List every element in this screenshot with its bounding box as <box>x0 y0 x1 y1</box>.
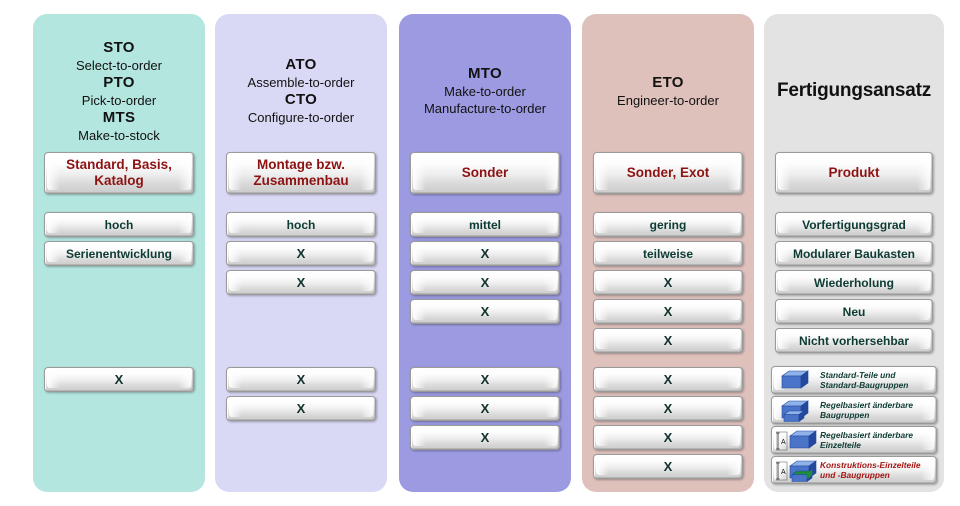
row-cell-eto-3[interactable]: X <box>593 299 743 324</box>
product-cell-eto[interactable]: Sonder, Exot <box>593 152 743 194</box>
icon-row-label: Konstruktions-Einzelteileund -Baugruppen <box>820 460 925 481</box>
heading-line: Manufacture-to-order <box>424 100 546 117</box>
column-heading-sto: STOSelect-to-orderPTOPick-to-orderMTSMak… <box>33 26 205 156</box>
column-heading-fertigungsansatz: Fertigungsansatz <box>764 26 944 156</box>
row-label: Nicht vorhersehbar <box>785 334 923 348</box>
row-cell-eto-4[interactable]: X <box>593 328 743 353</box>
row-cell-mto-2[interactable]: X <box>410 270 560 295</box>
lower-row-cell-ato-0[interactable]: X <box>226 367 376 392</box>
row-cell-fertigungsansatz-3[interactable]: Neu <box>775 299 933 324</box>
product-label: Montage bzw.Zusammenbau <box>239 157 362 189</box>
row-cell-fertigungsansatz-0[interactable]: Vorfertigungsgrad <box>775 212 933 237</box>
dimensioned-box-icon: A <box>776 427 820 453</box>
lower-row-cell-sto-0[interactable]: X <box>44 367 194 392</box>
lower-row-cell-mto-1[interactable]: X <box>410 396 560 421</box>
heading-line: PTO <box>103 74 134 92</box>
svg-text:A: A <box>781 439 786 446</box>
row-label: X <box>467 431 504 445</box>
lower-row-cell-mto-2[interactable]: X <box>410 425 560 450</box>
row-cell-ato-1[interactable]: X <box>226 241 376 266</box>
heading-line: Make-to-order <box>444 83 526 100</box>
row-label: teilweise <box>629 247 707 261</box>
heading-line: CTO <box>285 91 317 109</box>
row-label: X <box>650 402 687 416</box>
row-label: X <box>101 373 138 387</box>
column-heading-mto: MTOMake-to-orderManufacture-to-order <box>399 26 571 156</box>
row-label: X <box>650 276 687 290</box>
column-sto: STOSelect-to-orderPTOPick-to-orderMTSMak… <box>33 14 205 492</box>
lower-row-cell-eto-0[interactable]: X <box>593 367 743 392</box>
row-cell-ato-2[interactable]: X <box>226 270 376 295</box>
extra-row-cell-eto[interactable]: X <box>593 454 743 479</box>
row-cell-mto-1[interactable]: X <box>410 241 560 266</box>
product-cell-sto[interactable]: Standard, Basis,Katalog <box>44 152 194 194</box>
row-label: Modularer Baukasten <box>779 247 929 261</box>
row-cell-eto-2[interactable]: X <box>593 270 743 295</box>
row-cell-sto-1[interactable]: Serienentwicklung <box>44 241 194 266</box>
icon-row-0[interactable]: Standard-Teile undStandard-Baugruppen <box>771 366 937 394</box>
icon-row-3[interactable]: AKonstruktions-Einzelteileund -Baugruppe… <box>771 456 937 484</box>
row-label: X <box>467 373 504 387</box>
heading-line: MTO <box>468 65 502 83</box>
icon-row-label: Standard-Teile undStandard-Baugruppen <box>820 370 912 391</box>
row-label: mittel <box>455 218 515 232</box>
row-cell-fertigungsansatz-1[interactable]: Modularer Baukasten <box>775 241 933 266</box>
column-heading-ato: ATOAssemble-to-orderCTOConfigure-to-orde… <box>215 26 387 156</box>
row-label: X <box>283 247 320 261</box>
manufacturing-approach-diagram: STOSelect-to-orderPTOPick-to-orderMTSMak… <box>0 0 960 506</box>
heading-line: ETO <box>652 74 683 92</box>
heading-line: ATO <box>285 56 316 74</box>
row-label: X <box>650 305 687 319</box>
heading-line: Assemble-to-order <box>248 74 355 91</box>
heading-line: Pick-to-order <box>82 92 156 109</box>
lower-row-cell-eto-1[interactable]: X <box>593 396 743 421</box>
lower-row-cell-ato-1[interactable]: X <box>226 396 376 421</box>
row-label: hoch <box>273 218 330 232</box>
row-label: gering <box>636 218 701 232</box>
custom-assembly-icon: A <box>776 457 820 483</box>
icon-row-label: Regelbasiert änderbareEinzelteile <box>820 430 917 451</box>
product-label: Produkt <box>814 165 893 181</box>
solid-box-icon <box>776 367 820 393</box>
row-label: X <box>650 431 687 445</box>
heading-line: Select-to-order <box>76 57 162 74</box>
icon-row-label: Regelbasiert änderbareBaugruppen <box>820 400 917 421</box>
row-cell-eto-0[interactable]: gering <box>593 212 743 237</box>
product-label: Sonder, Exot <box>613 165 724 181</box>
heading-line: Engineer-to-order <box>617 92 719 109</box>
row-label: Serienentwicklung <box>52 247 186 261</box>
product-cell-fertigungsansatz[interactable]: Produkt <box>775 152 933 194</box>
row-label: X <box>467 402 504 416</box>
row-label: X <box>283 373 320 387</box>
row-label: X <box>467 305 504 319</box>
column-eto: ETOEngineer-to-orderSonder, Exotgeringte… <box>582 14 754 492</box>
product-cell-ato[interactable]: Montage bzw.Zusammenbau <box>226 152 376 194</box>
heading-line: STO <box>103 39 134 57</box>
row-label: X <box>467 247 504 261</box>
row-label: X <box>283 402 320 416</box>
row-cell-mto-0[interactable]: mittel <box>410 212 560 237</box>
row-label: X <box>650 334 687 348</box>
row-cell-sto-0[interactable]: hoch <box>44 212 194 237</box>
row-label: Vorfertigungsgrad <box>788 218 920 232</box>
row-label: X <box>650 373 687 387</box>
heading-line: Make-to-stock <box>78 127 160 144</box>
assembly-box-icon <box>776 397 820 423</box>
row-cell-fertigungsansatz-4[interactable]: Nicht vorhersehbar <box>775 328 933 353</box>
row-label: X <box>283 276 320 290</box>
row-cell-ato-0[interactable]: hoch <box>226 212 376 237</box>
row-cell-eto-1[interactable]: teilweise <box>593 241 743 266</box>
lower-row-cell-eto-2[interactable]: X <box>593 425 743 450</box>
column-heading-eto: ETOEngineer-to-order <box>582 26 754 156</box>
product-label: Sonder <box>448 165 523 181</box>
icon-row-1[interactable]: Regelbasiert änderbareBaugruppen <box>771 396 937 424</box>
row-label: X <box>650 460 687 474</box>
row-cell-fertigungsansatz-2[interactable]: Wiederholung <box>775 270 933 295</box>
product-cell-mto[interactable]: Sonder <box>410 152 560 194</box>
heading-line: Configure-to-order <box>248 109 354 126</box>
heading-line: Fertigungsansatz <box>777 79 931 103</box>
column-ato: ATOAssemble-to-orderCTOConfigure-to-orde… <box>215 14 387 492</box>
row-label: Neu <box>829 305 880 319</box>
column-fertigungsansatz: FertigungsansatzProduktVorfertigungsgrad… <box>764 14 944 492</box>
lower-row-cell-mto-0[interactable]: X <box>410 367 560 392</box>
icon-row-2[interactable]: ARegelbasiert änderbareEinzelteile <box>771 426 937 454</box>
column-mto: MTOMake-to-orderManufacture-to-orderSond… <box>399 14 571 492</box>
row-label: Wiederholung <box>800 276 908 290</box>
svg-text:A: A <box>781 469 786 476</box>
heading-line: MTS <box>103 109 136 127</box>
row-label: hoch <box>91 218 148 232</box>
row-cell-mto-3[interactable]: X <box>410 299 560 324</box>
row-label: X <box>467 276 504 290</box>
product-label: Standard, Basis,Katalog <box>52 157 186 189</box>
